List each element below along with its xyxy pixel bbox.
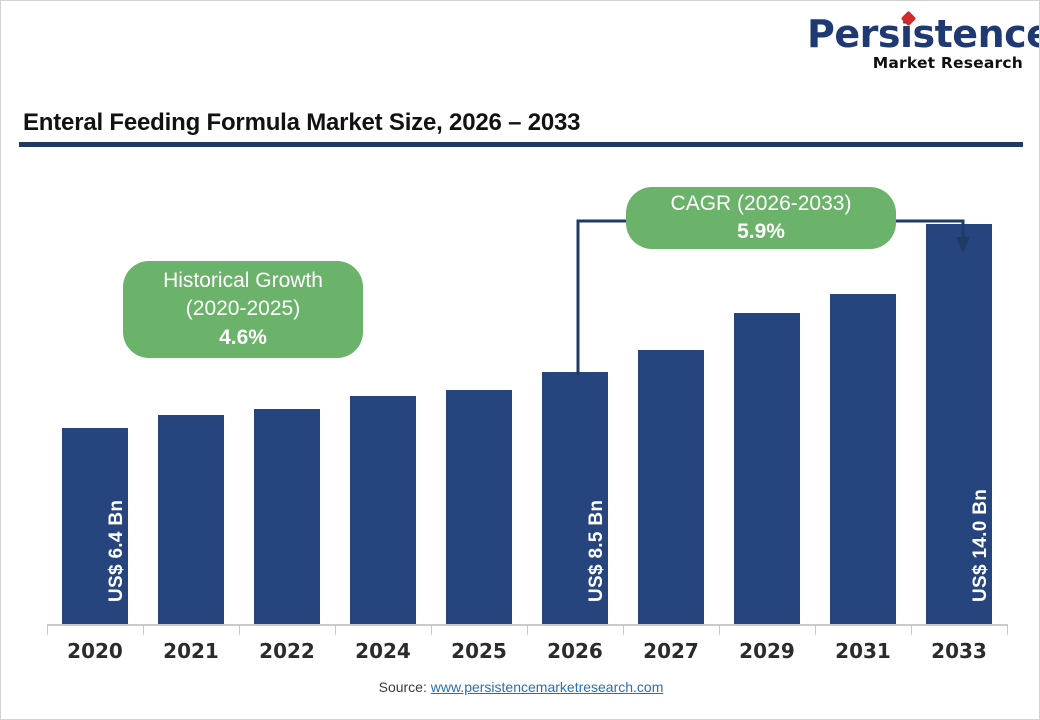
bar-2029	[734, 313, 800, 624]
callout-cagr-value: 5.9%	[737, 218, 785, 246]
x-label-2021: 2021	[143, 639, 239, 663]
x-label-2024: 2024	[335, 639, 431, 663]
source-prefix: Source:	[379, 679, 431, 695]
callout-cagr-line1: CAGR (2026-2033)	[671, 190, 852, 218]
chart-infographic: Persistence Market Research Enteral Feed…	[0, 0, 1040, 720]
callout-historical-line1: Historical Growth	[163, 267, 323, 295]
callout-historical-value: 4.6%	[219, 324, 267, 352]
bar-value-label-2026: US$ 8.5 Bn	[586, 500, 608, 602]
x-label-2033: 2033	[911, 639, 1007, 663]
callout-historical-growth: Historical Growth (2020-2025) 4.6%	[123, 261, 363, 358]
x-label-2022: 2022	[239, 639, 335, 663]
x-label-2020: 2020	[47, 639, 143, 663]
bar-value-label-2033: US$ 14.0 Bn	[970, 489, 992, 602]
bar-2027	[638, 350, 704, 624]
bar-2022	[254, 409, 320, 624]
bar-2021	[158, 415, 224, 624]
bar-2025	[446, 390, 512, 624]
bar-2031	[830, 294, 896, 624]
x-tick-end	[1007, 624, 1008, 635]
x-label-2029: 2029	[719, 639, 815, 663]
source-link[interactable]: www.persistencemarketresearch.com	[431, 679, 664, 695]
x-label-2031: 2031	[815, 639, 911, 663]
callout-historical-line2: (2020-2025)	[186, 295, 300, 323]
bar-value-label-2020: US$ 6.4 Bn	[106, 500, 128, 602]
bar-chart-plot: 2020US$ 6.4 Bn20212022202420252026US$ 8.…	[1, 1, 1040, 720]
bar-2024	[350, 396, 416, 624]
x-label-2027: 2027	[623, 639, 719, 663]
x-label-2026: 2026	[527, 639, 623, 663]
x-label-2025: 2025	[431, 639, 527, 663]
callout-cagr: CAGR (2026-2033) 5.9%	[626, 187, 896, 249]
source-note: Source: www.persistencemarketresearch.co…	[1, 679, 1040, 695]
x-axis-line	[47, 624, 1007, 626]
